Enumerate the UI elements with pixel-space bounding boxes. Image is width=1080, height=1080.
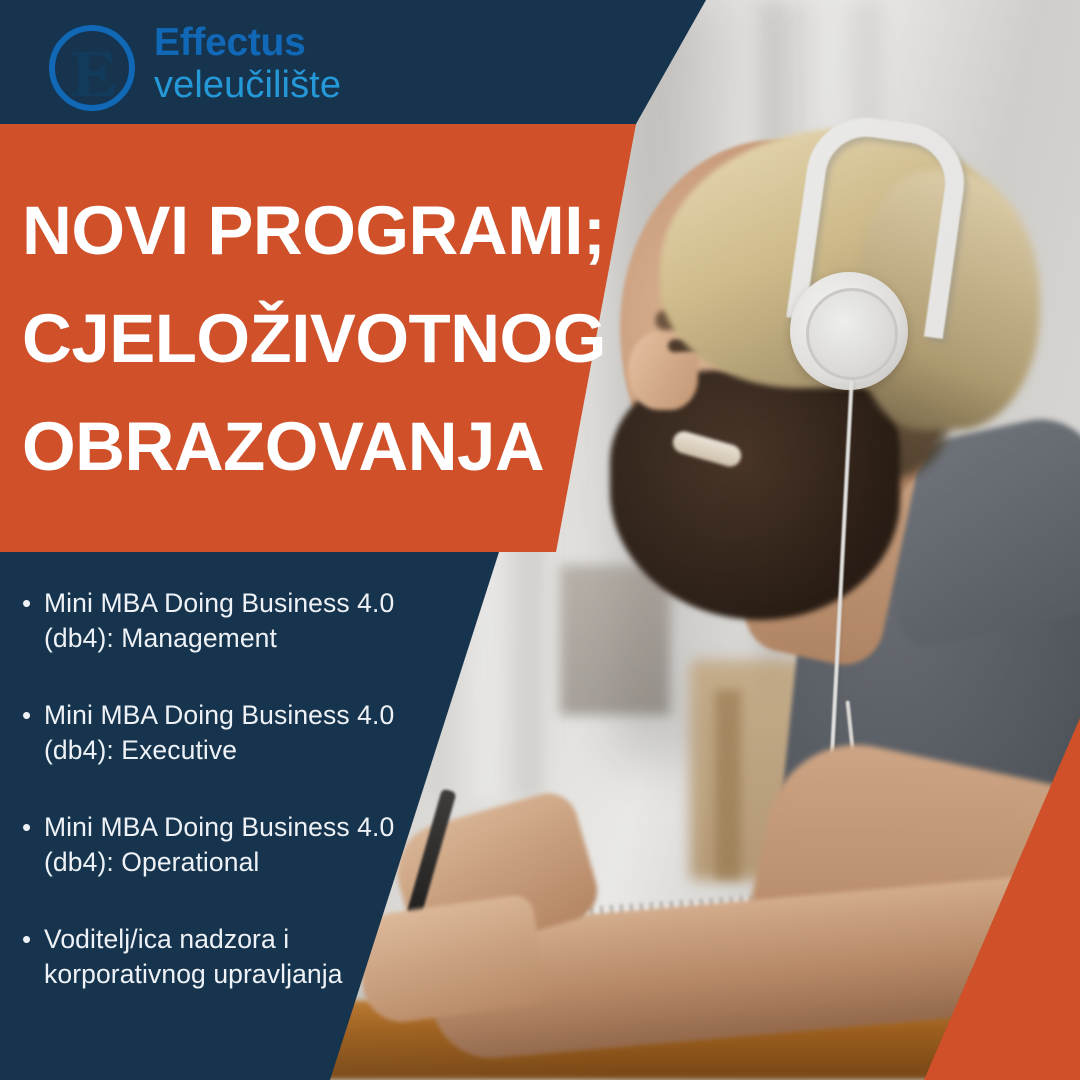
- headline-line-1: NOVI PROGRAMI;: [22, 177, 582, 285]
- list-item: • Mini MBA Doing Business 4.0 (db4): Exe…: [16, 698, 416, 768]
- bullet-marker-icon: •: [16, 810, 44, 880]
- bullet-marker-icon: •: [16, 698, 44, 768]
- promo-poster: Effectus veleučilište NOVI PROGRAMI; CJE…: [0, 0, 1080, 1080]
- list-item-label: Mini MBA Doing Business 4.0 (db4): Opera…: [44, 810, 416, 880]
- headline: NOVI PROGRAMI; CJELOŽIVOTNOG OBRAZOVANJA: [22, 177, 582, 501]
- brand-name-veleuciliste: veleučilište: [154, 64, 341, 106]
- list-item-label: Voditelj/ica nadzora i korporativnog upr…: [44, 922, 416, 992]
- list-item-label: Mini MBA Doing Business 4.0 (db4): Execu…: [44, 698, 416, 768]
- bullet-marker-icon: •: [16, 922, 44, 992]
- list-item: • Voditelj/ica nadzora i korporativnog u…: [16, 922, 416, 992]
- list-item: • Mini MBA Doing Business 4.0 (db4): Ope…: [16, 810, 416, 880]
- list-item: • Mini MBA Doing Business 4.0 (db4): Man…: [16, 586, 416, 656]
- headline-line-2: CJELOŽIVOTNOG: [22, 285, 582, 393]
- brand-name-effectus: Effectus: [154, 22, 341, 64]
- program-list: • Mini MBA Doing Business 4.0 (db4): Man…: [16, 586, 416, 992]
- brand-logo[interactable]: Effectus veleučilište: [46, 16, 466, 116]
- list-item-label: Mini MBA Doing Business 4.0 (db4): Manag…: [44, 586, 416, 656]
- brand-wordmark: Effectus veleučilište: [154, 22, 341, 106]
- bullet-marker-icon: •: [16, 586, 44, 656]
- headline-line-3: OBRAZOVANJA: [22, 393, 582, 501]
- circle-letter-e-icon: [46, 22, 138, 114]
